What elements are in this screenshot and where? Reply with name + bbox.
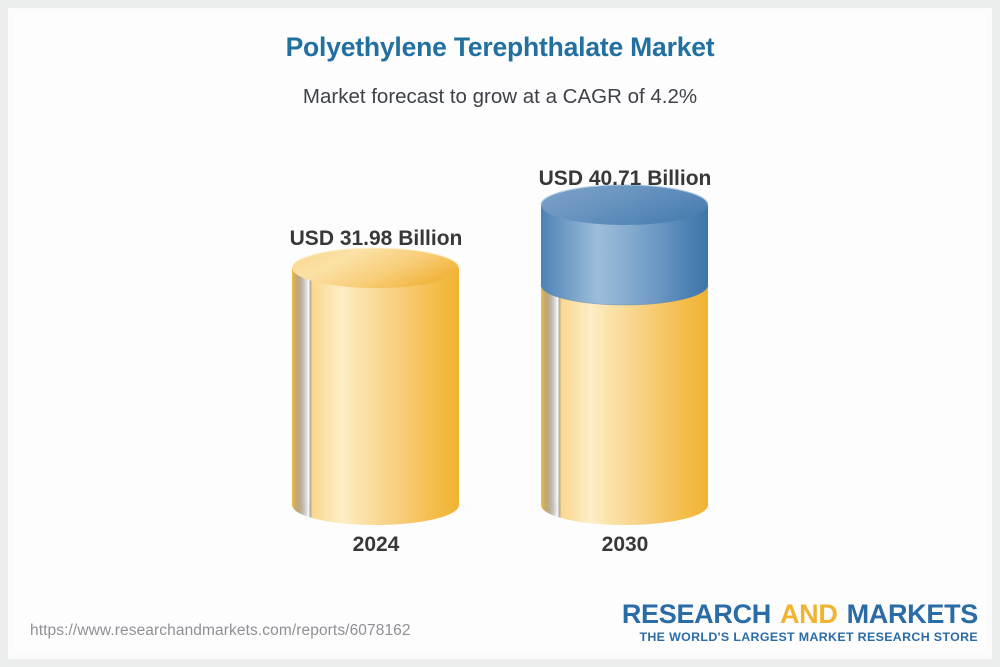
logo-word-and: AND (780, 599, 838, 629)
logo-tagline: THE WORLD'S LARGEST MARKET RESEARCH STOR… (622, 630, 978, 644)
category-label-2030: 2030 (455, 533, 795, 557)
bar-cylinder-2030[interactable] (541, 185, 708, 525)
cylinder-chart-svg (0, 0, 1000, 667)
value-label-2030: USD 40.71 Billion (455, 167, 795, 191)
bar-2024-body (292, 268, 459, 525)
logo-word-markets: MARKETS (847, 599, 978, 629)
logo-wordmark: RESEARCHANDMARKETS (622, 600, 978, 628)
logo-word-research: RESEARCH (622, 599, 771, 629)
value-label-2024: USD 31.98 Billion (206, 227, 546, 251)
plot-area: USD 31.98 Billion USD 40.71 Billion 2024… (0, 0, 1000, 667)
research-and-markets-logo[interactable]: RESEARCHANDMARKETS THE WORLD'S LARGEST M… (622, 600, 978, 644)
report-url[interactable]: https://www.researchandmarkets.com/repor… (30, 622, 411, 640)
bar-2030-base-segment (541, 285, 708, 525)
bar-cylinder-2024[interactable] (292, 248, 459, 525)
chart-frame: Polyethylene Terephthalate Market Market… (0, 0, 1000, 667)
